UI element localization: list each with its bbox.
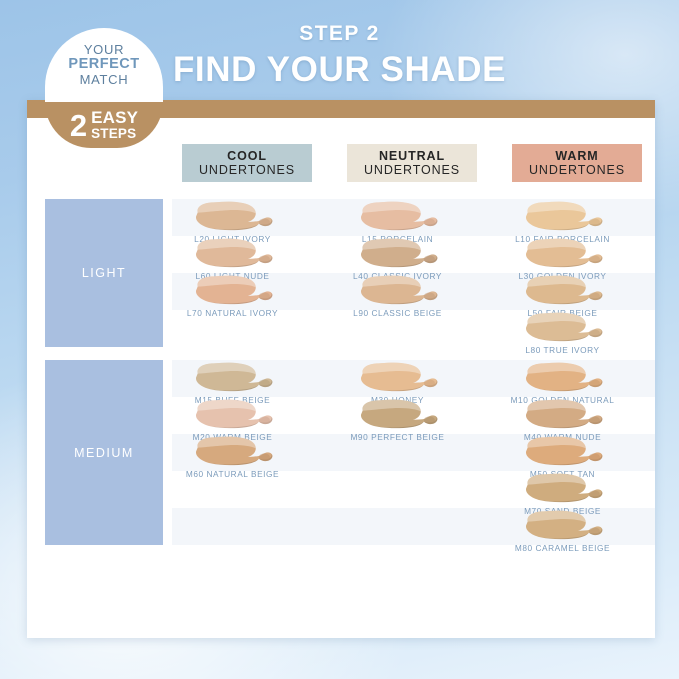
foundation-swatch-icon xyxy=(519,274,607,307)
column-header-word: NEUTRAL xyxy=(379,149,445,163)
badge-bottom-half: 2 EASY STEPS xyxy=(45,102,163,148)
shade-cell[interactable]: M90 PERFECT BEIGE xyxy=(320,398,475,442)
foundation-swatch-icon xyxy=(189,361,277,394)
foundation-swatch-icon xyxy=(189,398,277,431)
shade-name-label: M90 PERFECT BEIGE xyxy=(320,432,475,442)
foundation-swatch-icon xyxy=(189,435,277,468)
foundation-swatch-icon xyxy=(354,398,442,431)
shade-cell[interactable]: L70 NATURAL IVORY xyxy=(155,274,310,318)
foundation-swatch-icon xyxy=(519,472,607,505)
badge-word-steps: STEPS xyxy=(91,127,136,141)
tone-block-label: MEDIUM xyxy=(74,446,134,460)
badge-line-perfect: PERFECT xyxy=(68,57,139,73)
shade-name-label: L90 CLASSIC BEIGE xyxy=(320,308,475,318)
badge-line-your: YOUR xyxy=(84,43,124,57)
foundation-swatch-icon xyxy=(354,274,442,307)
column-header-cool: COOLUNDERTONES xyxy=(182,144,312,182)
tone-block-light: LIGHT xyxy=(45,199,163,347)
badge-word-easy: EASY xyxy=(91,109,138,126)
shade-cell[interactable]: L90 CLASSIC BEIGE xyxy=(320,274,475,318)
foundation-swatch-icon xyxy=(519,361,607,394)
foundation-swatch-icon xyxy=(519,509,607,542)
shade-name-label: L80 TRUE IVORY xyxy=(485,345,640,355)
foundation-swatch-icon xyxy=(354,361,442,394)
shade-cell[interactable]: M60 NATURAL BEIGE xyxy=(155,435,310,479)
column-header-word: COOL xyxy=(227,149,267,163)
column-header-neutral: NEUTRALUNDERTONES xyxy=(347,144,477,182)
shade-cell[interactable]: M80 CARAMEL BEIGE xyxy=(485,509,640,553)
shade-grid: COOLUNDERTONESNEUTRALUNDERTONESWARMUNDER… xyxy=(27,100,655,638)
foundation-swatch-icon xyxy=(519,398,607,431)
column-header-sub: UNDERTONES xyxy=(364,163,460,177)
foundation-swatch-icon xyxy=(354,237,442,270)
column-header-word: WARM xyxy=(555,149,598,163)
tone-block-medium: MEDIUM xyxy=(45,360,163,545)
foundation-swatch-icon xyxy=(189,274,277,307)
column-header-sub: UNDERTONES xyxy=(529,163,625,177)
foundation-swatch-icon xyxy=(189,200,277,233)
badge-top-half: YOUR PERFECT MATCH xyxy=(45,28,163,102)
badge-number: 2 xyxy=(70,110,91,141)
shade-chart-card: COOLUNDERTONESNEUTRALUNDERTONESWARMUNDER… xyxy=(27,100,655,638)
tone-block-label: LIGHT xyxy=(82,266,126,280)
foundation-swatch-icon xyxy=(189,237,277,270)
foundation-swatch-icon xyxy=(519,200,607,233)
badge-line-match: MATCH xyxy=(80,73,129,87)
foundation-swatch-icon xyxy=(519,311,607,344)
column-header-warm: WARMUNDERTONES xyxy=(512,144,642,182)
foundation-swatch-icon xyxy=(519,237,607,270)
shade-name-label: L70 NATURAL IVORY xyxy=(155,308,310,318)
foundation-swatch-icon xyxy=(519,435,607,468)
perfect-match-badge: YOUR PERFECT MATCH 2 EASY STEPS xyxy=(45,28,163,148)
shade-name-label: M80 CARAMEL BEIGE xyxy=(485,543,640,553)
foundation-swatch-icon xyxy=(354,200,442,233)
shade-cell[interactable]: L80 TRUE IVORY xyxy=(485,311,640,355)
shade-name-label: M60 NATURAL BEIGE xyxy=(155,469,310,479)
column-header-sub: UNDERTONES xyxy=(199,163,295,177)
